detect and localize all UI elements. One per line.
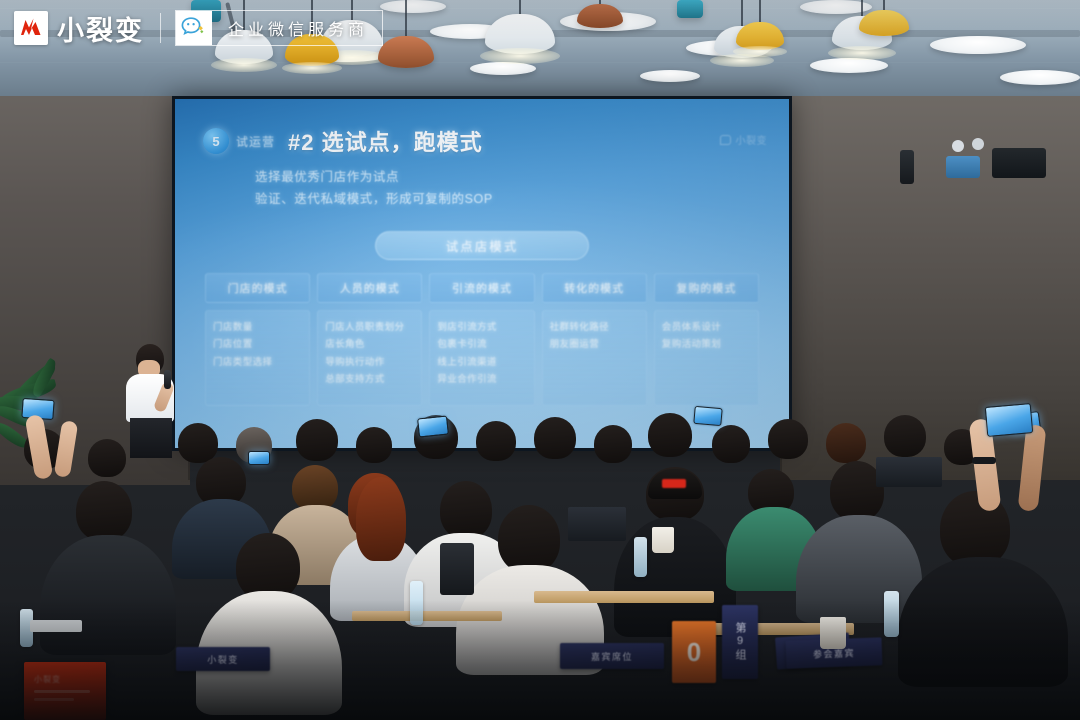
audience-head	[712, 425, 750, 463]
table-header-cell: 复购的模式	[654, 273, 759, 303]
audience-head	[826, 423, 866, 463]
cell-line: 门店数量	[213, 319, 302, 337]
table-column: 门店的模式 门店数量 门店位置 门店类型选择	[205, 273, 310, 406]
audience-head	[356, 427, 392, 463]
water-bottle	[634, 537, 647, 577]
audience-phone	[985, 403, 1033, 437]
red-brochure-label: 小裂变	[34, 674, 61, 685]
water-bottle	[410, 581, 423, 625]
thermos	[440, 543, 474, 595]
slide-subtitle-line-1: 选择最优秀门店作为试点	[255, 167, 761, 189]
audience: 0 第9组 小裂变 参会嘉宾 嘉宾席位 小裂变	[0, 395, 1080, 720]
brand-divider	[160, 13, 161, 43]
cell-line: 会员体系设计	[662, 319, 751, 337]
cell-line: 复购活动策划	[662, 336, 751, 354]
conference-table	[352, 611, 502, 621]
cell-line: 到店引流方式	[437, 319, 526, 337]
table-group-sign: 第9组	[722, 605, 758, 679]
cell-line: 门店类型选择	[213, 354, 302, 372]
slide-subtitle: 选择最优秀门店作为试点 验证、迭代私域模式，形成可复制的SOP	[255, 167, 761, 211]
table-column: 转化的模式 社群转化路径 朋友圈运营	[542, 273, 647, 406]
stage-label: 试运营	[236, 133, 275, 150]
audience-body	[40, 535, 176, 655]
watermark-text: 小裂变	[736, 132, 768, 147]
brand-name: 小裂变	[57, 9, 144, 48]
partner-badge: 企业微信服务商	[175, 10, 383, 46]
wall-speaker-left	[900, 150, 914, 184]
red-brochure: 小裂变	[24, 662, 106, 720]
table-column: 人员的模式 门店人员职责划分 店长角色 导购执行动作 总部支持方式	[317, 273, 422, 406]
cell-line: 社群转化路径	[550, 319, 639, 337]
table-header-cell: 人员的模式	[317, 273, 422, 303]
watermark-icon	[720, 135, 731, 145]
cell-line: 店长角色	[325, 336, 414, 354]
table-body-cell: 到店引流方式 包裹卡引流 线上引流渠道 异业合作引流	[429, 310, 534, 406]
stage-number-badge-icon: 5	[203, 128, 229, 154]
audience-head	[534, 417, 576, 459]
table-name-card: 小裂变	[176, 647, 270, 671]
audience-head	[498, 505, 560, 573]
table-column: 引流的模式 到店引流方式 包裹卡引流 线上引流渠道 异业合作引流	[429, 273, 534, 406]
wristwatch-icon	[972, 457, 996, 464]
cell-line: 门店人员职责划分	[325, 319, 414, 337]
audience-head	[88, 439, 126, 477]
screenshot-root: 5 试运营 #2 选试点，跑模式 小裂变 选择最优秀门店作为试点 验证、迭代私域…	[0, 0, 1080, 720]
slide-header: 5 试运营 #2 选试点，跑模式	[203, 125, 761, 157]
speaker-bracket-icon	[972, 138, 984, 150]
audience-phone	[248, 451, 270, 465]
conference-table	[534, 591, 714, 603]
table-column: 复购的模式 会员体系设计 复购活动策划	[654, 273, 759, 406]
stage-badge-text: 5	[212, 134, 219, 149]
microphone-icon	[164, 370, 171, 389]
audience-head	[296, 419, 338, 461]
lightning-n-logo-icon	[14, 11, 48, 45]
audience-head	[76, 481, 132, 541]
speaker-bracket-icon	[952, 140, 964, 152]
audience-head	[178, 423, 218, 463]
brand-overlay-bar: 小裂变 企业微信服务商	[0, 0, 1080, 56]
audience-body	[898, 557, 1068, 687]
slide-table: 门店的模式 门店数量 门店位置 门店类型选择 人员的模式 门店人员职责划分 店长…	[205, 273, 759, 406]
paper-cup	[820, 617, 846, 649]
table-body-cell: 门店人员职责划分 店长角色 导购执行动作 总部支持方式	[317, 310, 422, 406]
laptop	[876, 457, 942, 487]
cell-line: 异业合作引流	[437, 371, 526, 389]
projector-mount	[946, 156, 980, 178]
audience-body	[614, 517, 736, 637]
audience-head	[356, 477, 406, 561]
audience-head	[768, 419, 808, 459]
cell-line: 门店位置	[213, 336, 302, 354]
slide-subtitle-line-2: 验证、迭代私域模式，形成可复制的SOP	[255, 189, 761, 211]
table-header-cell: 门店的模式	[205, 273, 310, 303]
raised-arm	[54, 420, 79, 478]
partner-label: 企业微信服务商	[212, 16, 382, 40]
foreground-paper	[30, 620, 82, 632]
cell-line: 导购执行动作	[325, 354, 414, 372]
table-name-card: 嘉宾席位	[560, 643, 664, 669]
slide-title: #2 选试点，跑模式	[288, 125, 483, 157]
audience-head	[440, 481, 492, 539]
table-header-cell: 引流的模式	[429, 273, 534, 303]
table-header-cell: 转化的模式	[542, 273, 647, 303]
audience-head	[648, 413, 692, 457]
slide-watermark: 小裂变	[720, 132, 768, 147]
laptop	[568, 507, 626, 541]
cell-line: 线上引流渠道	[437, 354, 526, 372]
cap-logo-icon	[662, 479, 686, 488]
cell-line: 包裹卡引流	[437, 336, 526, 354]
table-body-cell: 门店数量 门店位置 门店类型选择	[205, 310, 310, 406]
slide-section-pill: 试点店模式	[375, 231, 589, 260]
audience-head	[476, 421, 516, 461]
audience-phone	[693, 406, 722, 426]
av-speaker-box	[992, 148, 1046, 178]
table-body-cell: 社群转化路径 朋友圈运营	[542, 310, 647, 406]
table-body-cell: 会员体系设计 复购活动策划	[654, 310, 759, 406]
water-bottle	[884, 591, 899, 637]
raised-arm	[1018, 424, 1047, 512]
paper-cup	[652, 527, 674, 553]
audience-head	[594, 425, 632, 463]
table-number-card: 0	[672, 621, 716, 683]
wechat-bubble-icon	[176, 11, 212, 45]
audience-head	[884, 415, 926, 457]
cell-line: 总部支持方式	[325, 371, 414, 389]
audience-phone	[417, 415, 449, 437]
cell-line: 朋友圈运营	[550, 336, 639, 354]
